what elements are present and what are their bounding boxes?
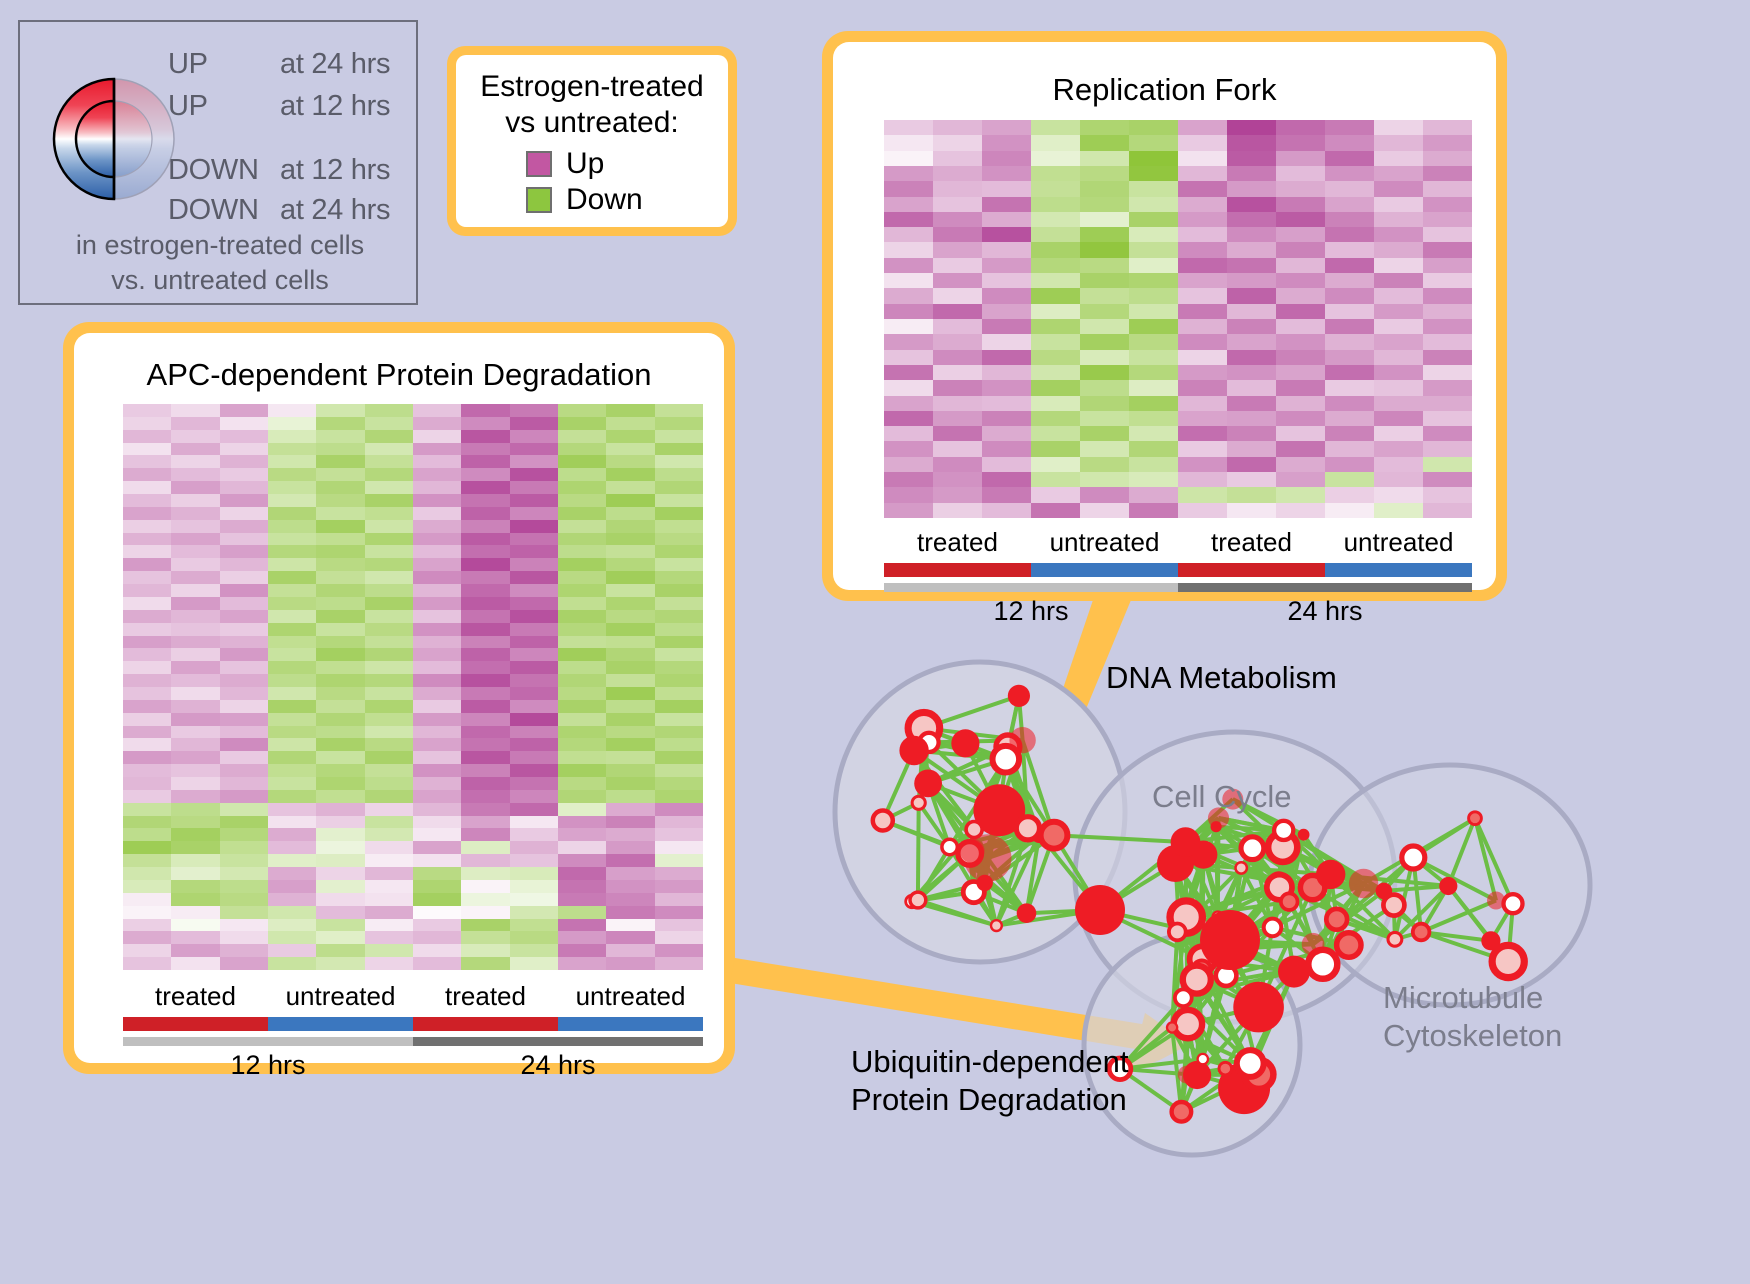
network-edge — [1218, 818, 1219, 917]
cluster-label-cell-cycle: Cell Cycle — [1152, 778, 1292, 816]
network-node — [942, 839, 957, 854]
network-node — [1349, 869, 1378, 898]
network-node — [993, 746, 1020, 773]
network-node — [1172, 1102, 1192, 1122]
network-node — [1281, 893, 1298, 910]
network-node — [966, 822, 982, 838]
network-node — [1298, 829, 1310, 841]
network-node — [1439, 877, 1457, 895]
cluster-label-microtubule-line1: Microtubule — [1383, 979, 1543, 1017]
cluster-label-ubiquitin-line1: Ubiquitin-dependent — [851, 1043, 1129, 1081]
network-node — [1402, 846, 1425, 869]
network-node — [1198, 1054, 1208, 1064]
network-node — [1017, 903, 1037, 923]
network-node — [991, 920, 1002, 931]
network-node — [914, 770, 942, 798]
network-node — [1469, 812, 1482, 825]
network-node — [1316, 860, 1345, 889]
network-node — [1041, 822, 1068, 849]
network-node — [1174, 1010, 1202, 1038]
network-node — [1200, 910, 1260, 970]
network-node — [1236, 862, 1247, 873]
network-diagram: DNA Metabolism Cell Cycle Microtubule Cy… — [800, 600, 1750, 1279]
network-node — [960, 838, 985, 863]
network-node — [1388, 932, 1402, 946]
network-node — [1302, 933, 1325, 956]
network-node — [1241, 837, 1264, 860]
network-node — [977, 875, 993, 891]
network-node — [1219, 1062, 1232, 1075]
network-node — [1278, 956, 1310, 988]
network-node — [1008, 685, 1030, 707]
network-node — [1274, 821, 1293, 840]
network-node — [873, 811, 893, 831]
network-node — [1487, 892, 1505, 910]
network-node — [1326, 909, 1347, 930]
network-node — [1383, 895, 1404, 916]
network-edge — [918, 803, 919, 900]
network-node — [1233, 982, 1284, 1033]
network-node — [1504, 894, 1523, 913]
network-node — [1075, 885, 1125, 935]
network-node — [1016, 817, 1039, 840]
cluster-label-ubiquitin-line2: Protein Degradation — [851, 1081, 1127, 1119]
network-node — [951, 729, 979, 757]
network-node — [1264, 919, 1282, 937]
figure-canvas: UP at 24 hrs UP at 12 hrs DOWN at 12 hrs… — [0, 0, 1750, 1279]
network-node — [1171, 827, 1201, 857]
network-node — [1183, 1061, 1211, 1089]
network-node — [1481, 931, 1500, 950]
network-svg — [800, 600, 1750, 1279]
network-node — [1169, 924, 1186, 941]
network-node — [1413, 924, 1430, 941]
network-node — [1337, 933, 1361, 957]
network-node — [912, 796, 925, 809]
network-node — [1167, 1022, 1177, 1032]
network-node — [910, 892, 926, 908]
network-node — [1492, 945, 1524, 977]
cluster-label-microtubule-line2: Cytoskeleton — [1383, 1017, 1562, 1055]
cluster-label-dna-metabolism: DNA Metabolism — [1106, 659, 1337, 697]
network-node — [899, 736, 928, 765]
network-node — [1237, 1050, 1264, 1077]
network-node — [1175, 989, 1192, 1006]
